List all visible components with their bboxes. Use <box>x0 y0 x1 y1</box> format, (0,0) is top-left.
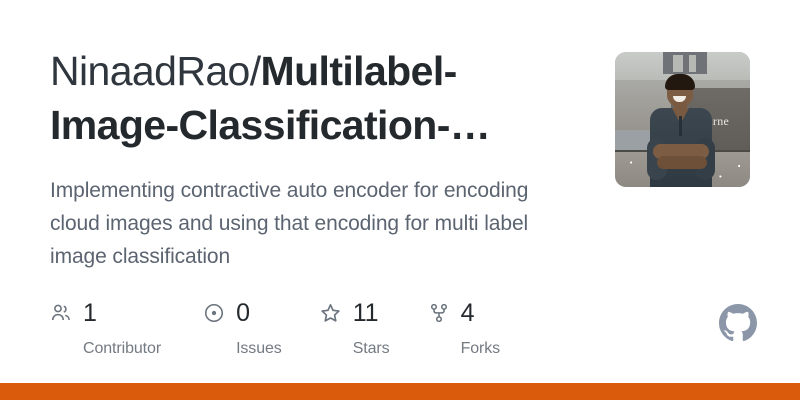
stat-issues-top: 0 <box>203 298 250 328</box>
stat-forks[interactable]: 4 Forks <box>428 298 501 357</box>
avatar-person-forearm-lower <box>657 156 707 169</box>
stat-forks-top: 4 <box>428 298 475 328</box>
github-logo-icon <box>719 304 757 342</box>
avatar-background-window <box>663 52 707 74</box>
repository-title: NinaadRao/Multilabel-Image-Classificatio… <box>50 44 550 152</box>
stat-stars[interactable]: 11 Stars <box>320 298 390 357</box>
avatar-background-window-pane-left <box>673 55 683 72</box>
people-icon <box>50 302 72 324</box>
stat-forks-value: 4 <box>461 301 475 326</box>
stat-stars-value: 11 <box>353 301 379 326</box>
stat-contributors-top: 1 <box>50 298 97 328</box>
repository-social-card: NinaadRao/Multilabel-Image-Classificatio… <box>0 0 800 400</box>
owner-repo-separator: / <box>250 48 261 94</box>
issue-opened-icon <box>203 302 225 324</box>
stat-stars-top: 11 <box>320 298 379 328</box>
stat-contributors[interactable]: 1 Contributor <box>50 298 161 357</box>
avatar-person-placket <box>679 116 682 136</box>
stat-issues[interactable]: 0 Issues <box>203 298 282 357</box>
repo-forked-icon <box>428 302 450 324</box>
language-color-bar <box>0 383 800 400</box>
stat-contributors-label: Contributor <box>50 341 161 357</box>
repository-description: Implementing contractive auto encoder fo… <box>50 174 580 273</box>
stat-issues-label: Issues <box>203 341 282 357</box>
avatar: Carne <box>615 52 750 187</box>
star-icon <box>320 302 342 324</box>
stat-issues-value: 0 <box>236 301 250 326</box>
repository-stats: 1 Contributor 0 Issues <box>50 298 500 357</box>
avatar-background-window-pane-right <box>689 55 696 72</box>
stat-contributors-value: 1 <box>83 301 97 326</box>
avatar-person-hair <box>665 74 695 90</box>
stat-stars-label: Stars <box>320 341 390 357</box>
repository-owner[interactable]: NinaadRao <box>50 48 250 94</box>
stat-forks-label: Forks <box>428 341 501 357</box>
